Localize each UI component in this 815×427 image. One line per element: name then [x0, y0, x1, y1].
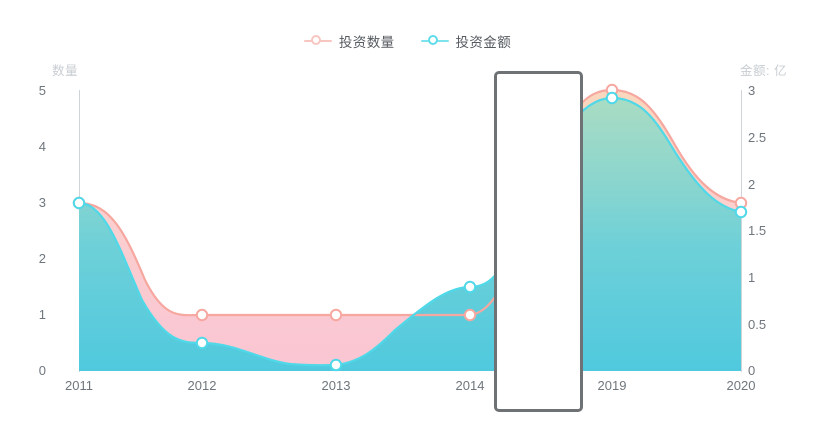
x-tick-2019: 2019 [582, 378, 642, 393]
x-tick-2011: 2011 [49, 378, 109, 393]
x-tick-2013: 2013 [306, 378, 366, 393]
x-tick-2014: 2014 [440, 378, 500, 393]
area-chart: 投资数量 投资金额 数量 金额: 亿 [0, 0, 815, 427]
x-tick-2020: 2020 [711, 378, 771, 393]
x-axis-ticks: 2011 2012 2013 2014 2019 2020 [0, 0, 815, 427]
x-tick-2012: 2012 [172, 378, 232, 393]
